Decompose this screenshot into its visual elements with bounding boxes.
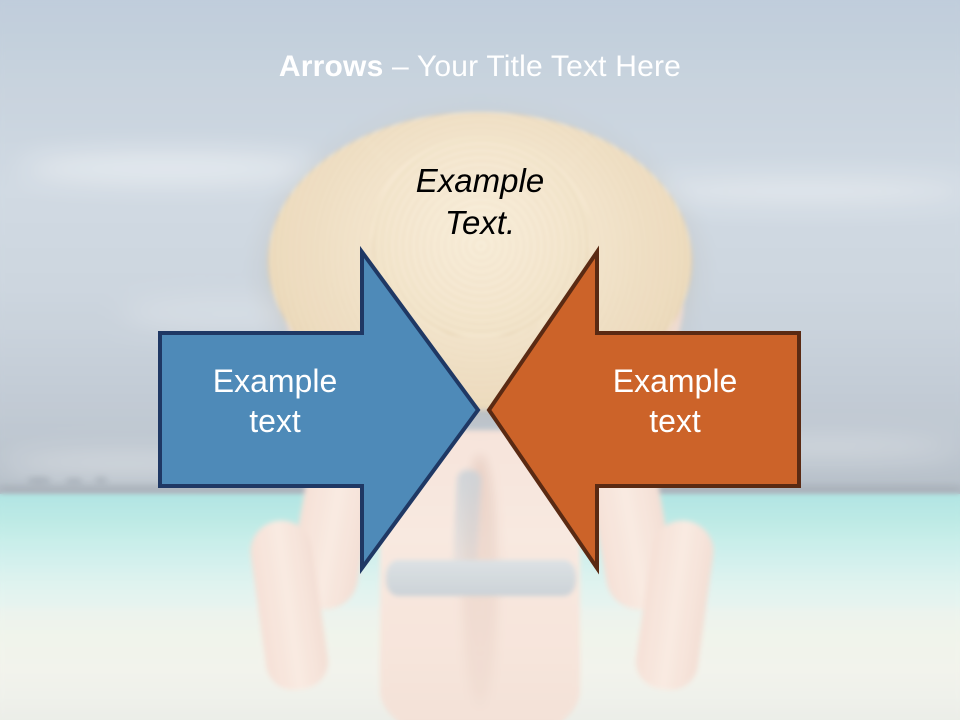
left-arrow-label-line1: Example bbox=[170, 361, 380, 401]
right-arrow-label-line2: text bbox=[570, 401, 780, 441]
arrows-svg bbox=[0, 0, 960, 720]
right-arrow-label: Example text bbox=[570, 361, 780, 441]
arrows-diagram: Example text Example text bbox=[0, 0, 960, 720]
left-arrow-label-line2: text bbox=[170, 401, 380, 441]
left-arrow-label: Example text bbox=[170, 361, 380, 441]
right-arrow-label-line1: Example bbox=[570, 361, 780, 401]
slide: Arrows – Your Title Text Here Example Te… bbox=[0, 0, 960, 720]
